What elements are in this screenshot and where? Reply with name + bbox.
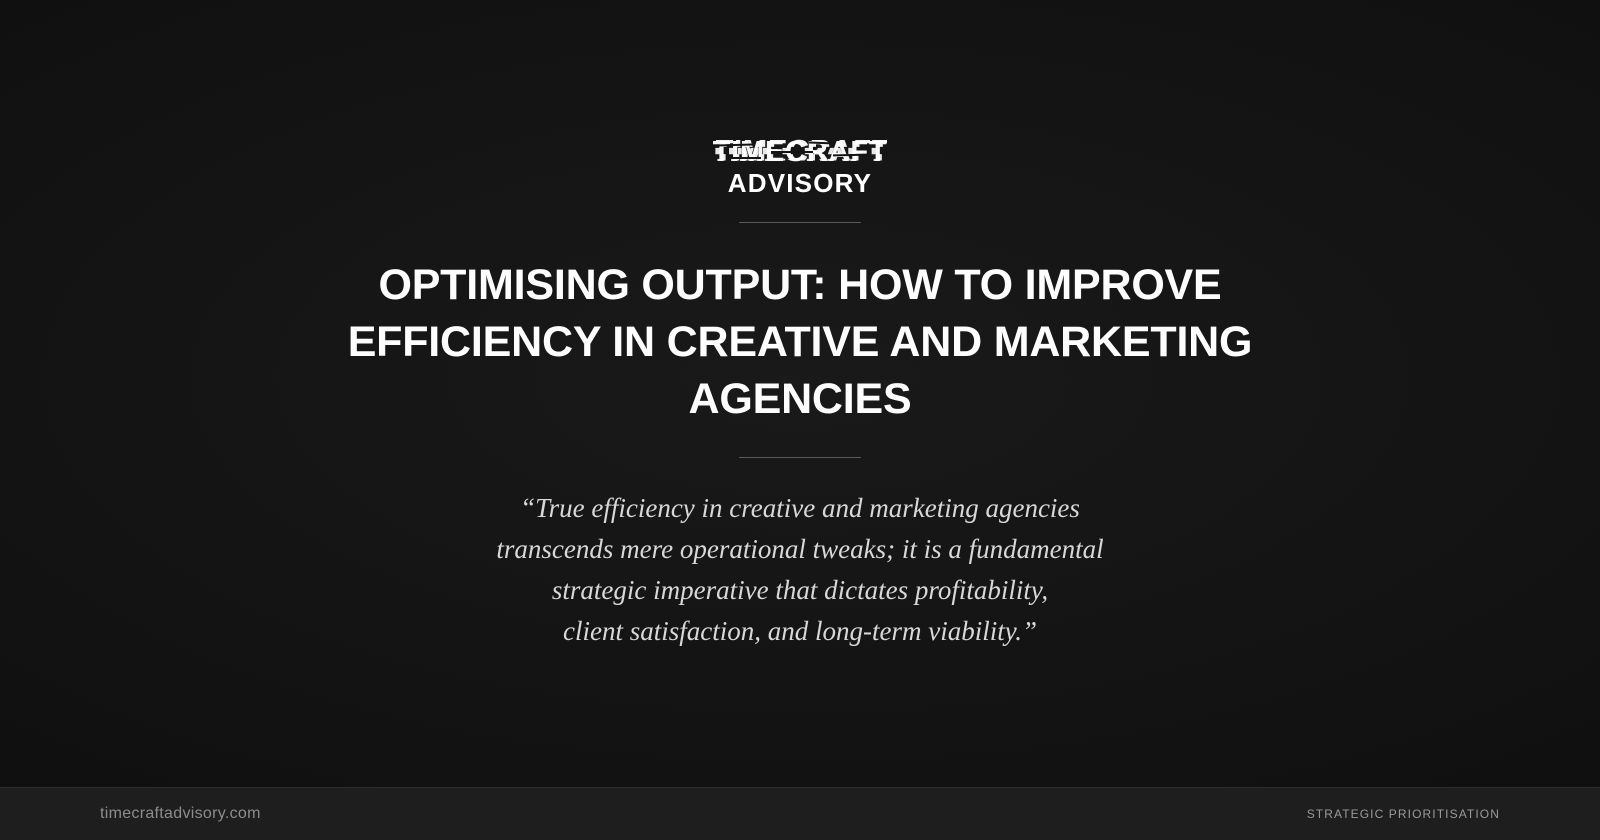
- pull-quote-line-1: “True efficiency in creative and marketi…: [420, 488, 1180, 529]
- pull-quote-line-2: transcends mere operational tweaks; it i…: [420, 529, 1180, 570]
- page-title-line-1: OPTIMISING OUTPUT: HOW TO IMPROVE: [378, 261, 1221, 309]
- brand-wordmark-glitch: TIMECRAFT TIMECRAFT TIMECRAFT TIMECRAFT …: [713, 138, 888, 165]
- page-title: OPTIMISING OUTPUT: HOW TO IMPROVE EFFICI…: [320, 257, 1280, 429]
- title-slide: TIMECRAFT TIMECRAFT TIMECRAFT TIMECRAFT …: [0, 0, 1600, 840]
- pull-quote-line-3: strategic imperative that dictates profi…: [420, 570, 1180, 611]
- slide-content: TIMECRAFT TIMECRAFT TIMECRAFT TIMECRAFT …: [0, 0, 1600, 787]
- footer-website[interactable]: timecraftadvisory.com: [100, 805, 261, 823]
- divider-under-logo: [739, 222, 861, 223]
- slide-footer: timecraftadvisory.com STRATEGIC PRIORITI…: [0, 787, 1600, 840]
- brand-subtitle: ADVISORY: [728, 170, 872, 196]
- footer-section-label: STRATEGIC PRIORITISATION: [1307, 807, 1500, 821]
- pull-quote-line-4: client satisfaction, and long-term viabi…: [420, 611, 1180, 652]
- page-title-line-3: AGENCIES: [689, 375, 912, 423]
- pull-quote: “True efficiency in creative and marketi…: [420, 488, 1180, 652]
- page-title-line-2: EFFICIENCY IN CREATIVE AND MARKETING: [348, 318, 1253, 366]
- brand-logo: TIMECRAFT TIMECRAFT TIMECRAFT TIMECRAFT …: [713, 138, 888, 196]
- divider-under-title: [739, 457, 861, 458]
